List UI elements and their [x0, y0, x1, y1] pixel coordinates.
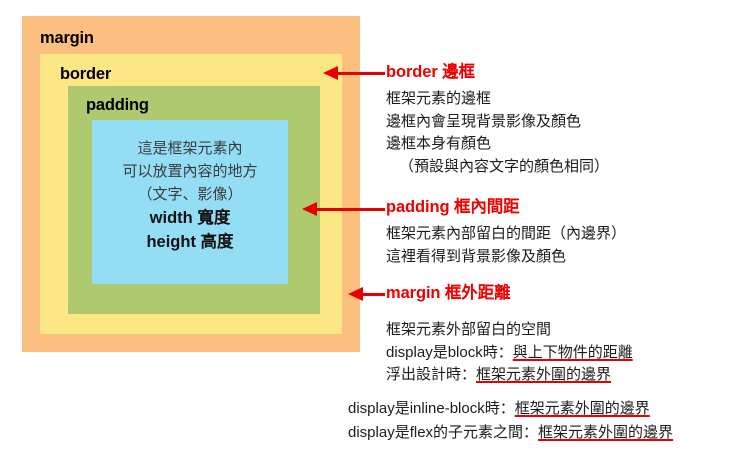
annotation-border-heading: border 邊框	[386, 58, 609, 82]
annotation-border-line-3: 邊框本身有顏色	[386, 133, 609, 156]
content-box-text: 這是框架元素內 可以放置內容的地方 （文字、影像） width 寬度 heigh…	[92, 120, 288, 254]
arrow-shaft	[361, 293, 385, 296]
annotation-margin-heading: margin 框外距離	[386, 279, 633, 303]
annotation-border-line-2: 邊框內會呈現背景影像及顏色	[386, 111, 609, 134]
content-box: 這是框架元素內 可以放置內容的地方 （文字、影像） width 寬度 heigh…	[92, 120, 288, 284]
padding-box: padding 這是框架元素內 可以放置內容的地方 （文字、影像） width …	[68, 86, 320, 314]
annotation-padding-heading: padding 框內間距	[386, 193, 626, 217]
annotation-padding-line-2: 這裡看得到背景影像及顏色	[386, 246, 626, 269]
annotation-margin: margin 框外距離 框架元素外部留白的空間 display是block時：與…	[386, 279, 633, 387]
annotation-border-line-4: （預設與內容文字的顏色相同）	[386, 156, 609, 179]
border-box-label: border	[60, 65, 111, 84]
border-box: border padding 這是框架元素內 可以放置內容的地方 （文字、影像）…	[40, 54, 342, 334]
content-line-3: （文字、影像）	[92, 183, 288, 206]
footer-line-1: display是inline-block時：框架元素外圍的邊界	[348, 397, 673, 421]
border-callout-arrow	[323, 65, 385, 81]
padding-callout-arrow	[302, 201, 385, 217]
annotation-padding: padding 框內間距 框架元素內部留白的間距（內邊界） 這裡看得到背景影像及…	[386, 193, 626, 268]
margin-callout-arrow	[348, 286, 385, 302]
annotation-margin-body: 框架元素外部留白的空間 display是block時：與上下物件的距離 浮出設計…	[386, 319, 633, 387]
annotation-margin-line-3-prefix: 浮出設計時：	[386, 366, 476, 383]
content-line-2: 可以放置內容的地方	[92, 160, 288, 183]
arrow-shaft	[315, 208, 385, 211]
footer-line-2: display是flex的子元素之間：框架元素外圍的邊界	[348, 421, 673, 445]
annotation-border-body: 框架元素的邊框 邊框內會呈現背景影像及顏色 邊框本身有顏色 （預設與內容文字的顏…	[386, 88, 609, 178]
content-width-label: width 寬度	[92, 206, 288, 230]
annotation-margin-line-2: display是block時：與上下物件的距離	[386, 342, 633, 365]
margin-box-label: margin	[40, 29, 94, 48]
annotation-border-line-1: 框架元素的邊框	[386, 88, 609, 111]
arrow-shaft	[336, 72, 385, 75]
annotation-margin-line-1: 框架元素外部留白的空間	[386, 319, 633, 342]
annotation-margin-line-3: 浮出設計時：框架元素外圍的邊界	[386, 364, 633, 387]
annotation-border: border 邊框 框架元素的邊框 邊框內會呈現背景影像及顏色 邊框本身有顏色 …	[386, 58, 609, 178]
footer-line-1-underlined: 框架元素外圍的邊界	[515, 400, 650, 417]
padding-box-label: padding	[86, 96, 149, 115]
footer-line-2-underlined: 框架元素外圍的邊界	[538, 424, 673, 441]
diagram-canvas: margin border padding 這是框架元素內 可以放置內容的地方 …	[0, 0, 750, 461]
footer-notes: display是inline-block時：框架元素外圍的邊界 display是…	[348, 397, 673, 445]
content-line-1: 這是框架元素內	[92, 137, 288, 160]
margin-box: margin border padding 這是框架元素內 可以放置內容的地方 …	[22, 16, 360, 352]
annotation-padding-line-1: 框架元素內部留白的間距（內邊界）	[386, 223, 626, 246]
annotation-margin-line-3-underlined: 框架元素外圍的邊界	[476, 366, 611, 383]
annotation-margin-line-2-prefix: display是block時：	[386, 344, 513, 361]
footer-line-1-prefix: display是inline-block時：	[348, 400, 515, 417]
footer-line-2-prefix: display是flex的子元素之間：	[348, 424, 538, 441]
annotation-padding-body: 框架元素內部留白的間距（內邊界） 這裡看得到背景影像及顏色	[386, 223, 626, 268]
content-height-label: height 高度	[92, 230, 288, 254]
annotation-margin-line-2-underlined: 與上下物件的距離	[513, 344, 633, 361]
